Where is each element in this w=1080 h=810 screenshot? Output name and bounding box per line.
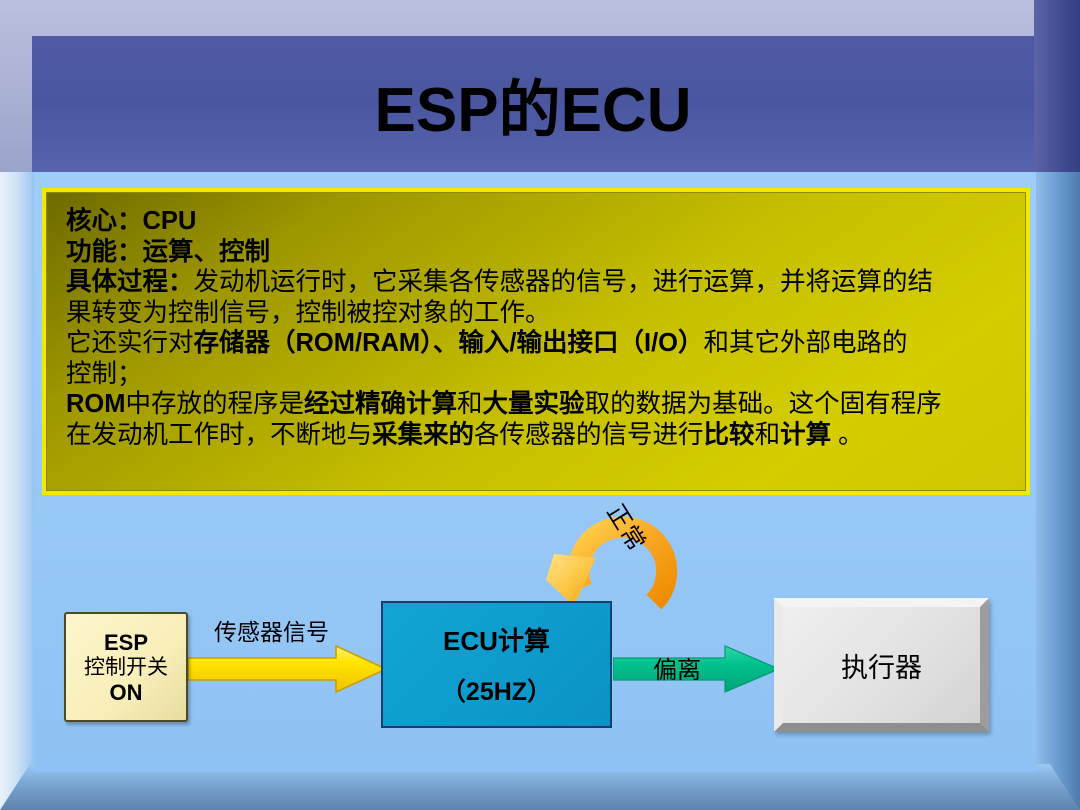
info-line: 它还实行对存储器（ROM/RAM）、输入/输出接口（I/O）和其它外部电路的 [66,328,1010,359]
info-value-cpu: CPU [143,207,197,235]
info-rom-1: 中存放的程序是 [126,389,305,418]
ecu-box-line2: （25HZ） [441,672,552,708]
info-line-function: 功能：运算、控制 [66,238,270,266]
info-process-text: 发动机运行时，它采集各传感器的信号，进行运算，并将运算的结 [194,267,934,296]
info-mem-tail: 控制； [66,359,143,388]
slide-title-bar: ESP的ECU [0,0,1080,172]
ecu-box-line1: ECU计算 [443,621,550,658]
info-label-process: 具体过程： [66,268,194,296]
info-rom-bold6: 计算 [780,421,838,449]
ecu-calc-box: ECU计算 （25HZ） [381,601,612,728]
slide-canvas: ESP的ECU 核心：CPU 功能：运算、控制 具体过程：发动机运行时，它采集各… [0,0,1080,810]
info-line: 控制； [66,359,1010,390]
info-rom-bold1: ROM [66,390,126,418]
info-text-box: 核心：CPU 功能：运算、控制 具体过程：发动机运行时，它采集各传感器的信号，进… [42,188,1030,495]
info-line: ROM中存放的程序是经过精确计算和大量实验取的数据为基础。这个固有程序 [66,389,1010,420]
info-rom-bold4: 采集来的 [372,421,474,449]
sensor-signal-label: 传感器信号 [214,613,329,647]
actuator-box-label: 执行器 [783,607,980,723]
info-rom-5: 各传感器的信号进行 [474,420,704,449]
esp-box-line2: 控制开关 [84,655,168,680]
info-rom-bold2: 经过精确计算 [304,390,457,418]
info-line: 具体过程：发动机运行时，它采集各传感器的信号，进行运算，并将运算的结 [66,267,1010,298]
info-line: 核心：CPU [66,206,1010,237]
info-rom-bold3: 大量实验 [483,390,585,418]
info-line: 果转变为控制信号，控制被控对象的工作。 [66,298,1010,329]
info-line: 在发动机工作时，不断地与采集来的各传感器的信号进行比较和计算 。 [66,420,1010,451]
info-rom-6: 和 [755,420,781,449]
sensor-signal-arrow-icon [188,645,386,693]
info-mem-bold: 存储器（ROM/RAM）、输入/输出接口（I/O） [194,329,704,357]
info-mem-post: 和其它外部电路的 [704,328,908,357]
deviation-label: 偏离 [653,650,701,685]
info-rom-2: 和 [457,389,483,418]
title-bevel-right [1034,0,1080,172]
page-title: ESP的ECU [32,36,1034,172]
info-line: 功能：运算、控制 [66,237,1010,268]
esp-box-line3: ON [110,680,143,705]
info-rom-3: 取的数据为基础。这个固有程序 [585,389,942,418]
info-rom-bold5: 比较 [704,421,755,449]
info-label-core: 核心： [66,207,143,235]
info-process-text-2: 果转变为控制信号，控制被控对象的工作。 [66,298,551,327]
actuator-box: 执行器 [774,598,989,732]
info-rom-4: 在发动机工作时，不断地与 [66,420,372,449]
esp-switch-box: ESP 控制开关 ON [64,612,188,722]
info-mem-pre: 它还实行对 [66,328,194,357]
esp-box-line1: ESP [104,630,148,655]
info-rom-7: 。 [838,420,864,449]
